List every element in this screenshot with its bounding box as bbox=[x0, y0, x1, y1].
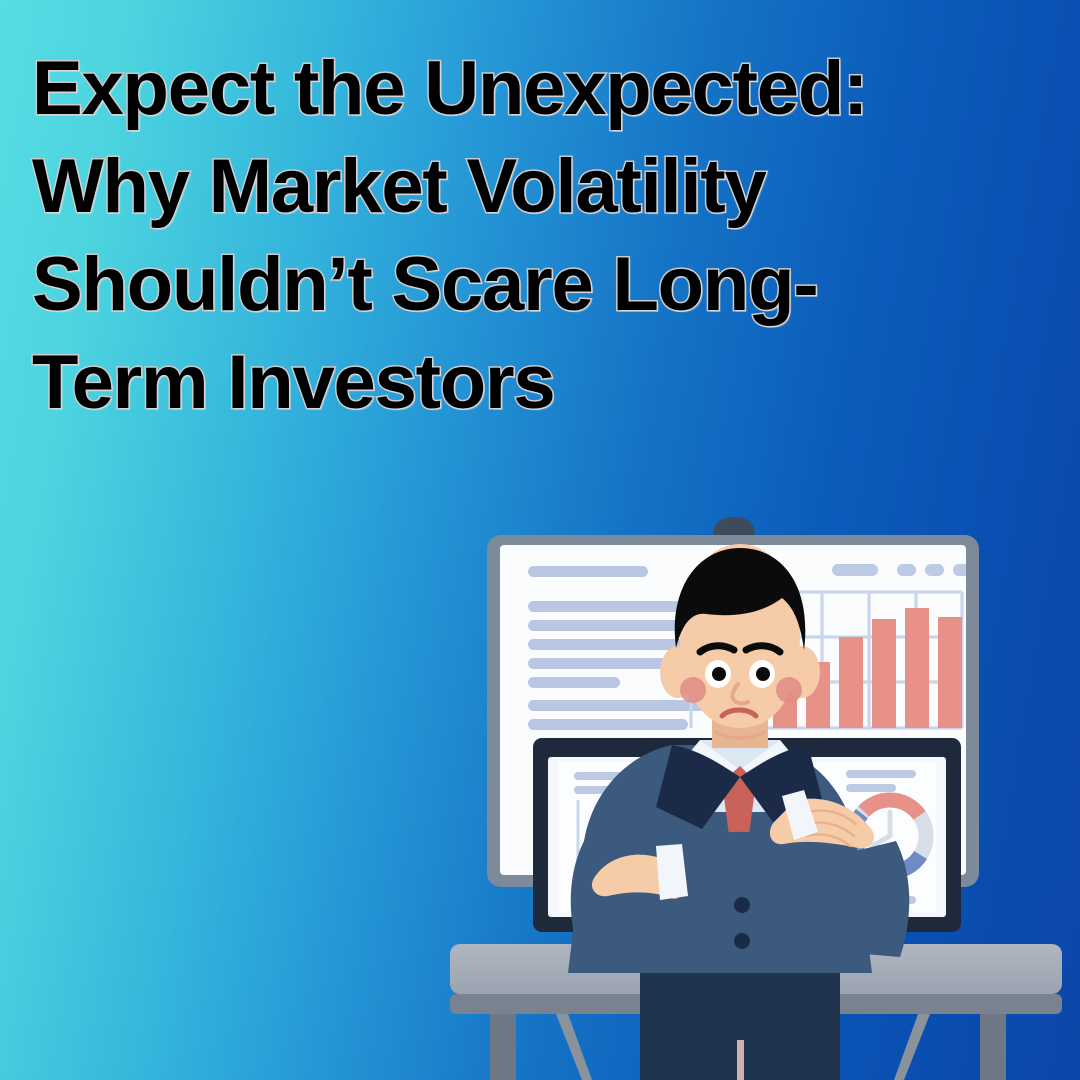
desk-leg-left bbox=[490, 1014, 516, 1080]
pupil-right bbox=[756, 667, 770, 681]
poster-canvas: Expect the Unexpected: Why Market Volati… bbox=[0, 0, 1080, 1080]
trouser-crease bbox=[737, 1040, 744, 1080]
desk-leg-right bbox=[980, 1014, 1006, 1080]
desk-brace-right bbox=[894, 1014, 930, 1080]
headline-line-1: Expect the Unexpected: bbox=[32, 40, 1022, 138]
suit-button-bottom bbox=[734, 933, 750, 949]
page-title: Expect the Unexpected: Why Market Volati… bbox=[32, 40, 1022, 432]
headline-line-3: Shouldn’t Scare Long- bbox=[32, 236, 1022, 334]
cheek-right bbox=[776, 677, 802, 703]
pupil-left bbox=[712, 667, 726, 681]
desk-brace-left bbox=[556, 1014, 592, 1080]
headline-line-2: Why Market Volatility bbox=[32, 138, 1022, 236]
headline-line-4: Term Investors bbox=[32, 334, 1022, 432]
suit-button-top bbox=[734, 897, 750, 913]
cheek-left bbox=[680, 677, 706, 703]
